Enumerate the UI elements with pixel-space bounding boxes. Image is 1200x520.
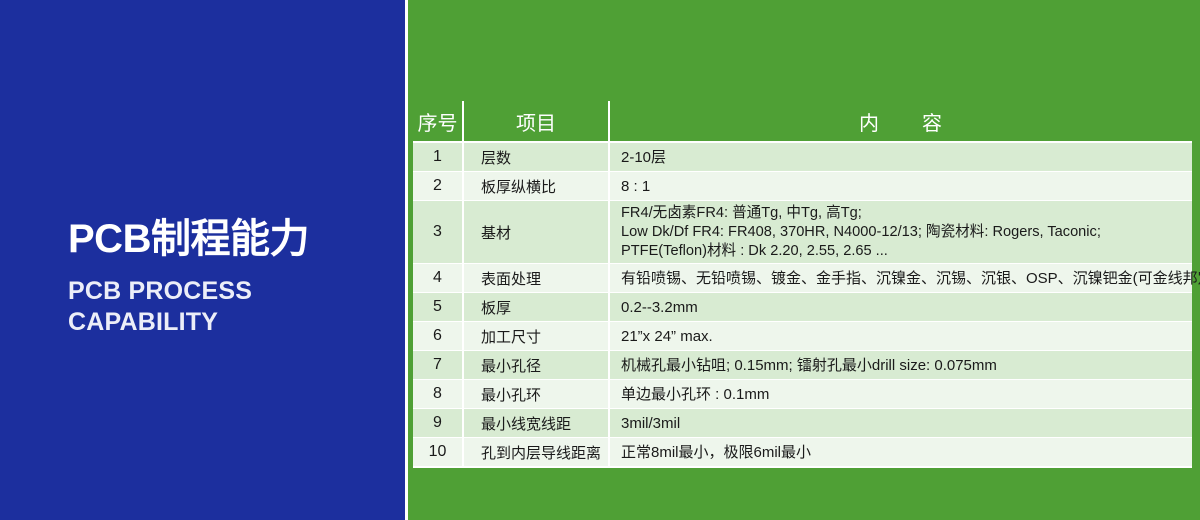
table-row: 8最小孔环单边最小孔环 : 0.1mm bbox=[413, 380, 1192, 409]
cell-no: 6 bbox=[413, 322, 463, 351]
table-row: 6加工尺寸21”x 24” max. bbox=[413, 322, 1192, 351]
cell-content-line: 机械孔最小钻咀; 0.15mm; 镭射孔最小drill size: 0.075m… bbox=[621, 356, 1192, 375]
cell-content-line: 2-10层 bbox=[621, 148, 1192, 167]
cell-item: 最小孔环 bbox=[463, 380, 609, 409]
cell-content-line: PTFE(Teflon)材料 : Dk 2.20, 2.55, 2.65 ... bbox=[621, 242, 1192, 261]
page-subtitle-line-1: PCB PROCESS bbox=[68, 276, 398, 307]
table-row: 9最小线宽线距3mil/3mil bbox=[413, 409, 1192, 438]
cell-content: 2-10层 bbox=[609, 142, 1192, 172]
cell-content: 单边最小孔环 : 0.1mm bbox=[609, 380, 1192, 409]
cell-content-line: 3mil/3mil bbox=[621, 414, 1192, 433]
cell-no: 1 bbox=[413, 142, 463, 172]
cell-no: 7 bbox=[413, 351, 463, 380]
cell-item: 最小线宽线距 bbox=[463, 409, 609, 438]
table-row: 5板厚0.2--3.2mm bbox=[413, 293, 1192, 322]
pcb-capability-table: 序号 项目 内 容 1层数2-10层2板厚纵横比8 : 13基材FR4/无卤素F… bbox=[413, 101, 1192, 468]
cell-content: FR4/无卤素FR4: 普通Tg, 中Tg, 高Tg;Low Dk/Df FR4… bbox=[609, 201, 1192, 264]
slide-canvas: PCB制程能力 PCB PROCESS CAPABILITY 序号 项目 内 容… bbox=[0, 0, 1200, 520]
cell-content: 0.2--3.2mm bbox=[609, 293, 1192, 322]
cell-no: 4 bbox=[413, 264, 463, 293]
cell-content-line: 有铅喷锡、无铅喷锡、镀金、金手指、沉镍金、沉锡、沉银、OSP、沉镍钯金(可金线邦… bbox=[621, 269, 1192, 288]
cell-item: 最小孔径 bbox=[463, 351, 609, 380]
table-row: 2板厚纵横比8 : 1 bbox=[413, 172, 1192, 201]
cell-content: 有铅喷锡、无铅喷锡、镀金、金手指、沉镍金、沉锡、沉银、OSP、沉镍钯金(可金线邦… bbox=[609, 264, 1192, 293]
cell-no: 5 bbox=[413, 293, 463, 322]
cell-no: 8 bbox=[413, 380, 463, 409]
cell-item: 孔到内层导线距离 bbox=[463, 438, 609, 468]
cell-no: 10 bbox=[413, 438, 463, 468]
cell-item: 板厚 bbox=[463, 293, 609, 322]
page-subtitle: PCB PROCESS CAPABILITY bbox=[68, 276, 398, 338]
cell-content-line: 0.2--3.2mm bbox=[621, 298, 1192, 317]
cell-content-line: FR4/无卤素FR4: 普通Tg, 中Tg, 高Tg; bbox=[621, 204, 1192, 223]
cell-content: 机械孔最小钻咀; 0.15mm; 镭射孔最小drill size: 0.075m… bbox=[609, 351, 1192, 380]
cell-item: 基材 bbox=[463, 201, 609, 264]
cell-item: 层数 bbox=[463, 142, 609, 172]
cell-item: 加工尺寸 bbox=[463, 322, 609, 351]
cell-no: 9 bbox=[413, 409, 463, 438]
table-row: 10孔到内层导线距离正常8mil最小，极限6mil最小 bbox=[413, 438, 1192, 468]
cell-item: 板厚纵横比 bbox=[463, 172, 609, 201]
cell-content-line: 21”x 24” max. bbox=[621, 327, 1192, 346]
column-header-item: 项目 bbox=[463, 101, 609, 142]
cell-no: 2 bbox=[413, 172, 463, 201]
cell-content-line: 正常8mil最小，极限6mil最小 bbox=[621, 443, 1192, 462]
page-subtitle-line-2: CAPABILITY bbox=[68, 307, 398, 338]
page-title: PCB制程能力 bbox=[68, 216, 398, 262]
cell-content-line: 8 : 1 bbox=[621, 177, 1192, 196]
table-row: 1层数2-10层 bbox=[413, 142, 1192, 172]
cell-content: 21”x 24” max. bbox=[609, 322, 1192, 351]
table-body: 1层数2-10层2板厚纵横比8 : 13基材FR4/无卤素FR4: 普通Tg, … bbox=[413, 142, 1192, 467]
table-row: 4表面处理有铅喷锡、无铅喷锡、镀金、金手指、沉镍金、沉锡、沉银、OSP、沉镍钯金… bbox=[413, 264, 1192, 293]
table-row: 3基材FR4/无卤素FR4: 普通Tg, 中Tg, 高Tg;Low Dk/Df … bbox=[413, 201, 1192, 264]
cell-no: 3 bbox=[413, 201, 463, 264]
cell-content: 3mil/3mil bbox=[609, 409, 1192, 438]
column-header-content: 内 容 bbox=[609, 101, 1192, 142]
left-blue-panel: PCB制程能力 PCB PROCESS CAPABILITY bbox=[0, 0, 405, 520]
cell-content-line: Low Dk/Df FR4: FR408, 370HR, N4000-12/13… bbox=[621, 223, 1192, 242]
table-header-row: 序号 项目 内 容 bbox=[413, 101, 1192, 142]
table-header: 序号 项目 内 容 bbox=[413, 101, 1192, 142]
cell-content-line: 单边最小孔环 : 0.1mm bbox=[621, 385, 1192, 404]
table-row: 7最小孔径机械孔最小钻咀; 0.15mm; 镭射孔最小drill size: 0… bbox=[413, 351, 1192, 380]
cell-content: 正常8mil最小，极限6mil最小 bbox=[609, 438, 1192, 468]
cell-content: 8 : 1 bbox=[609, 172, 1192, 201]
title-block: PCB制程能力 PCB PROCESS CAPABILITY bbox=[68, 216, 398, 338]
cell-item: 表面处理 bbox=[463, 264, 609, 293]
column-header-no: 序号 bbox=[413, 101, 463, 142]
